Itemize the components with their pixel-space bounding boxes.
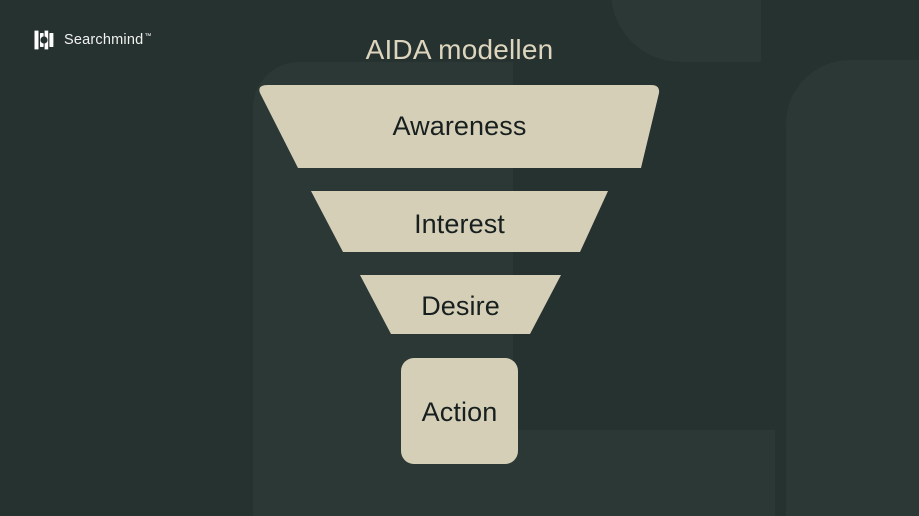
funnel-stage-label-interest: Interest bbox=[311, 209, 608, 240]
slide-canvas: Searchmind™ AIDA modellen Awareness Inte… bbox=[0, 0, 919, 516]
funnel-stage-label-awareness: Awareness bbox=[259, 111, 660, 142]
funnel-stage-label-desire: Desire bbox=[360, 291, 561, 322]
aida-funnel-diagram bbox=[0, 0, 919, 516]
funnel-stage-label-action: Action bbox=[401, 397, 518, 428]
